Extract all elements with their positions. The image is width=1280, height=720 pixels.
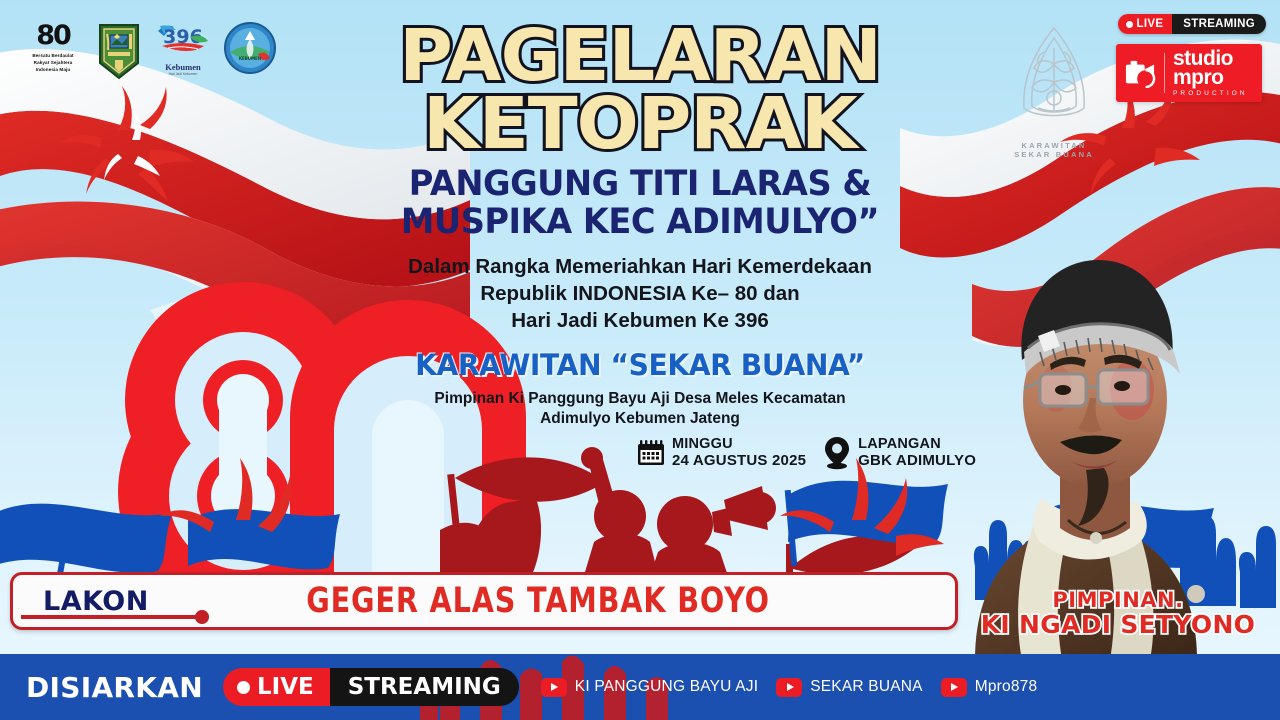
firework-splash-left bbox=[58, 86, 194, 202]
gunungan-label-1: KARAWITAN bbox=[1002, 141, 1106, 150]
kebumen-396-logo: 396 Kebumen Hari Jadi Kebumen bbox=[154, 22, 212, 76]
gunungan-ornament: KARAWITAN SEKAR BUANA bbox=[1002, 22, 1106, 159]
footer-bar: DISIARKAN LIVE STREAMING KI PANGGUNG BAY… bbox=[0, 654, 1280, 720]
leader-line-2: Adimulyo Kebumen Jateng bbox=[275, 409, 1005, 429]
lakon-bar: LAKON GEGER ALAS TAMBAK BOYO bbox=[10, 572, 958, 630]
description-line-3: Hari Jadi Kebumen Ke 396 bbox=[275, 307, 1005, 334]
group-leader-info: Pimpinan Ki Panggung Bayu Aji Desa Meles… bbox=[275, 389, 1005, 429]
event-date: MINGGU 24 AGUSTUS 2025 bbox=[636, 437, 806, 469]
event-venue: LAPANGAN GBK ADIMULYO bbox=[822, 436, 976, 470]
logo-80-tagline-3: Indonesia Maju bbox=[22, 66, 84, 73]
event-description: Dalam Rangka Memeriahkan Hari Kemerdekaa… bbox=[275, 253, 1005, 334]
logo-396-label: Kebumen bbox=[154, 62, 212, 72]
logo-80-tagline-1: Bersatu Berdaulat bbox=[22, 52, 84, 59]
subtitle-line-1: PANGGUNG TITI LARAS & bbox=[290, 166, 991, 203]
youtube-icon bbox=[541, 678, 567, 697]
description-line-2: Republik INDONESIA Ke– 80 dan bbox=[275, 280, 1005, 307]
indonesia-80-logo: 80 Bersatu Berdaulat Rakyat Sejahtera In… bbox=[22, 22, 84, 73]
live-badge-left: LIVE bbox=[1118, 14, 1173, 34]
event-full-date: 24 AGUSTUS 2025 bbox=[672, 453, 806, 469]
leader-role-label: PIMPINAN. bbox=[958, 588, 1278, 612]
calendar-icon bbox=[636, 438, 666, 468]
logo-396-sub: Hari Jadi Kebumen bbox=[154, 72, 212, 76]
headline-block: PAGELARAN KETOPRAK PANGGUNG TITI LARAS &… bbox=[275, 22, 1005, 430]
group-name: KARAWITAN “SEKAR BUANA” bbox=[286, 348, 994, 382]
youtube-channel-name: KI PANGGUNG BAYU AJI bbox=[575, 678, 758, 696]
event-poster: 80 Bersatu Berdaulat Rakyat Sejahtera In… bbox=[0, 0, 1280, 720]
live-badge-streaming-label: STREAMING bbox=[1172, 14, 1266, 34]
youtube-icon bbox=[776, 678, 802, 697]
live-dot-icon bbox=[1126, 21, 1133, 28]
blue-flags bbox=[0, 481, 1214, 580]
gunungan-icon bbox=[1004, 22, 1104, 134]
event-day: MINGGU bbox=[672, 437, 806, 453]
leader-name: KI NGADI SETYONO bbox=[958, 610, 1278, 639]
youtube-channel-list: KI PANGGUNG BAYU AJI SEKAR BUANA Mpro878 bbox=[541, 678, 1038, 697]
splash-burst bbox=[160, 458, 944, 556]
svg-text:KEBUMEN: KEBUMEN bbox=[239, 56, 261, 61]
live-streaming-pill: LIVE STREAMING bbox=[223, 668, 519, 706]
youtube-channel-item[interactable]: SEKAR BUANA bbox=[776, 678, 922, 697]
youtube-channel-item[interactable]: Mpro878 bbox=[941, 678, 1038, 697]
camera-icon bbox=[1116, 58, 1164, 88]
logo-row: 80 Bersatu Berdaulat Rakyat Sejahtera In… bbox=[22, 22, 276, 80]
footer-live-part: LIVE bbox=[223, 668, 330, 706]
gunungan-label-2: SEKAR BUANA bbox=[1002, 150, 1106, 159]
footer-streaming-label: STREAMING bbox=[330, 668, 519, 706]
leader-name-block: PIMPINAN. KI NGADI SETYONO bbox=[958, 588, 1278, 639]
dinas-logo-round: KEBUMEN bbox=[224, 22, 276, 74]
venue-line-1: LAPANGAN bbox=[858, 437, 976, 453]
lakon-title: GEGER ALAS TAMBAK BOYO bbox=[219, 581, 857, 621]
youtube-icon bbox=[941, 678, 967, 697]
live-streaming-badge-top: LIVE STREAMING bbox=[1118, 14, 1266, 34]
logo-80-digits: 80 bbox=[22, 22, 84, 49]
event-meta-row: MINGGU 24 AGUSTUS 2025 LAPANGAN GBK ADIM… bbox=[636, 436, 976, 470]
logo-80-tagline-2: Rakyat Sejahtera bbox=[22, 59, 84, 66]
description-line-1: Dalam Rangka Memeriahkan Hari Kemerdekaa… bbox=[275, 253, 1005, 280]
youtube-channel-name: Mpro878 bbox=[975, 678, 1038, 696]
leader-line-1: Pimpinan Ki Panggung Bayu Aji Desa Meles… bbox=[275, 389, 1005, 409]
broadcast-label: DISIARKAN bbox=[26, 671, 203, 704]
studio-mpro-logo: studio mpro PRODUCTION bbox=[1116, 44, 1262, 102]
lakon-dot-icon bbox=[195, 610, 209, 624]
production-label: PRODUCTION bbox=[1173, 91, 1248, 97]
live-dot-icon bbox=[237, 681, 250, 694]
subtitle-line-2: MUSPIKA KEC ADIMULYO” bbox=[290, 204, 991, 241]
lakon-label: LAKON bbox=[43, 586, 149, 617]
live-badge-live-label: LIVE bbox=[1137, 18, 1164, 30]
youtube-channel-name: SEKAR BUANA bbox=[810, 678, 922, 696]
youtube-channel-item[interactable]: KI PANGGUNG BAYU AJI bbox=[541, 678, 758, 697]
kebumen-regency-crest bbox=[96, 22, 142, 80]
venue-line-2: GBK ADIMULYO bbox=[858, 453, 976, 469]
location-pin-icon bbox=[822, 436, 852, 470]
footer-live-label: LIVE bbox=[257, 674, 314, 700]
firework-splash-left-white bbox=[104, 110, 160, 180]
mpro-label: mpro bbox=[1173, 68, 1248, 88]
page-title: PAGELARAN KETOPRAK bbox=[264, 22, 1016, 158]
